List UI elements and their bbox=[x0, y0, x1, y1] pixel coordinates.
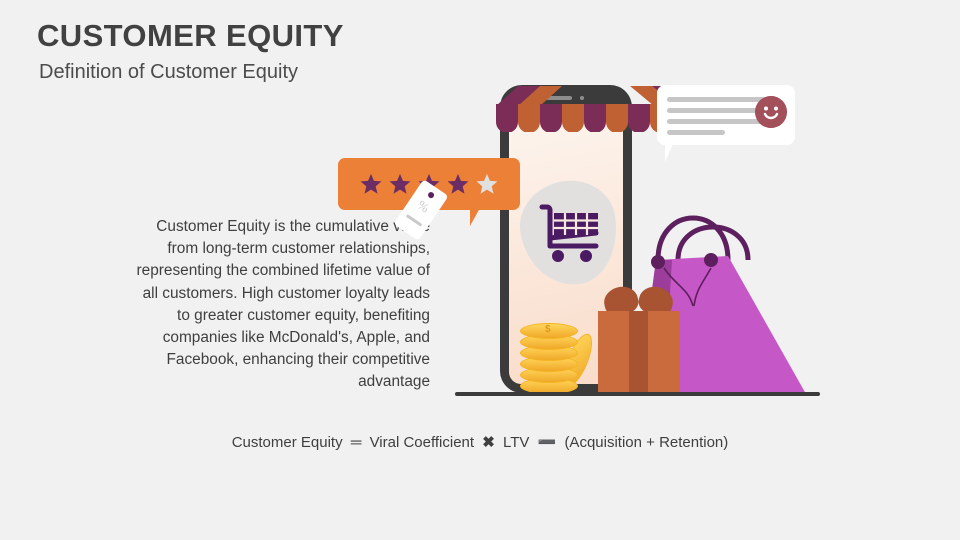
equity-formula: Customer Equity ═ Viral Coefficient ✖ LT… bbox=[0, 433, 960, 451]
slide-canvas: CUSTOMER EQUITY Definition of Customer E… bbox=[0, 0, 960, 540]
gift-box bbox=[598, 283, 684, 393]
formula-term-customer-equity: Customer Equity bbox=[232, 434, 343, 451]
shopping-cart-icon bbox=[538, 202, 604, 264]
cart-wheel-left-icon bbox=[552, 250, 564, 262]
tag-hole-icon bbox=[427, 191, 435, 199]
coin-stack: $ bbox=[520, 318, 606, 394]
star-filled-icon bbox=[447, 173, 469, 195]
star-filled-icon bbox=[360, 173, 382, 195]
review-chat-bubble[interactable] bbox=[657, 85, 795, 145]
formula-multiply-icon: ✖ bbox=[478, 433, 499, 451]
tag-rule bbox=[406, 214, 422, 226]
page-subtitle: Definition of Customer Equity bbox=[39, 61, 298, 84]
gift-ribbon bbox=[629, 311, 648, 393]
formula-minus-icon: ➖ bbox=[534, 433, 561, 451]
bag-handle-anchor-right bbox=[704, 253, 718, 267]
ground-line bbox=[455, 392, 820, 396]
page-title: CUSTOMER EQUITY bbox=[37, 18, 344, 54]
customer-equity-illustration: % $ bbox=[330, 78, 830, 403]
storefront-awning bbox=[496, 86, 676, 132]
cart-wheel-right-icon bbox=[580, 250, 592, 262]
star-badge-tail bbox=[470, 208, 480, 226]
chat-text-line bbox=[667, 130, 725, 135]
coin-top: $ bbox=[520, 323, 578, 339]
smiley-face-icon bbox=[755, 96, 787, 128]
formula-term-viral-coefficient: Viral Coefficient bbox=[370, 434, 475, 451]
formula-term-ltv: LTV bbox=[503, 434, 529, 451]
star-filled-icon bbox=[389, 173, 411, 195]
coin-dollar-label: $ bbox=[545, 324, 551, 335]
star-empty-icon bbox=[476, 173, 498, 195]
bag-handle-anchor-left bbox=[651, 255, 665, 269]
formula-equals-icon: ═ bbox=[347, 434, 366, 451]
formula-term-acquisition-retention: (Acquisition + Retention) bbox=[564, 434, 728, 451]
chat-bubble-tail bbox=[665, 144, 683, 162]
